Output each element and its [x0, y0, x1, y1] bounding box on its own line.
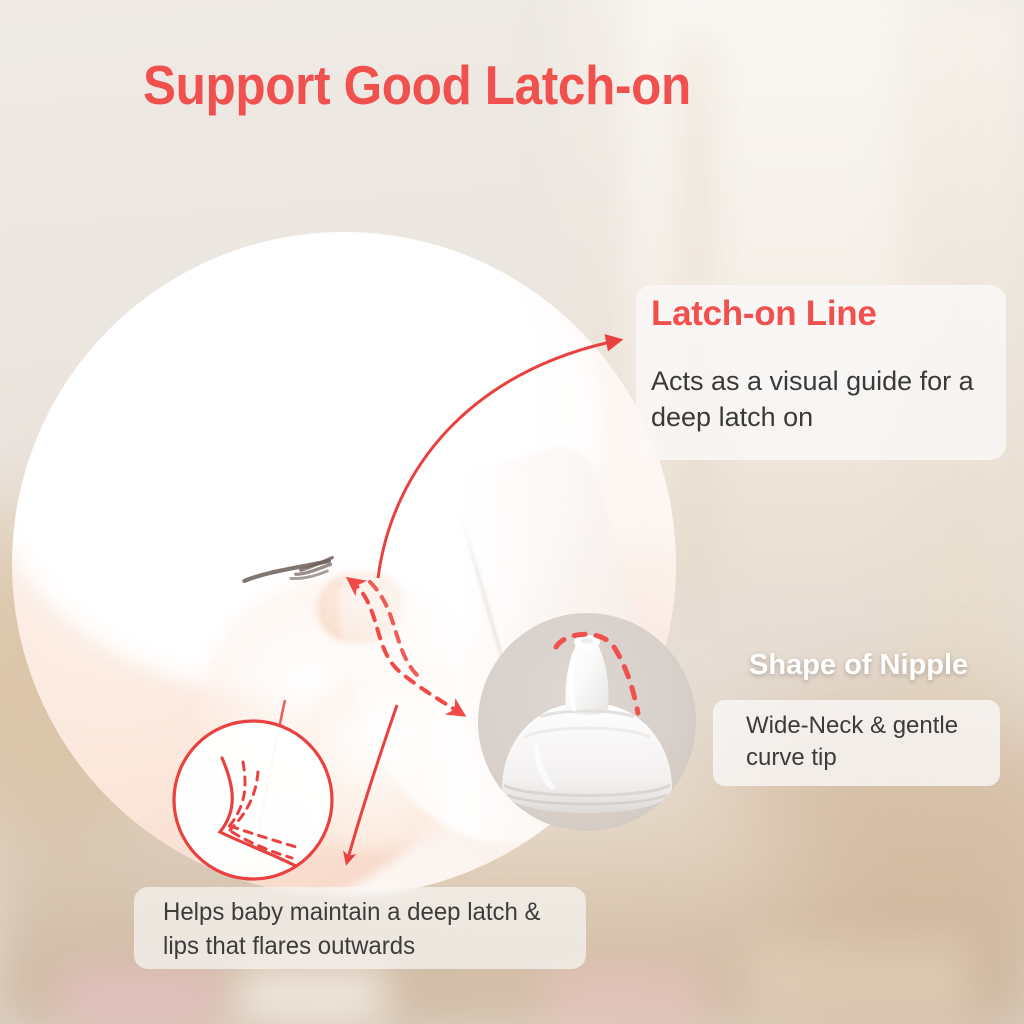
silicone-nipple-illustration — [478, 613, 696, 831]
nipple-shape-title: Shape of Nipple — [749, 649, 968, 682]
latch-line-title: Latch-on Line — [651, 294, 877, 334]
latch-line-body: Acts as a visual guide for a deep latch … — [651, 364, 996, 436]
nipple-inset-circle — [478, 613, 696, 831]
lip-flare-body: Helps baby maintain a deep latch & lips … — [163, 896, 566, 964]
baby-closed-eye-icon — [241, 556, 341, 596]
nipple-shape-body: Wide-Neck & gentle curve tip — [746, 710, 1004, 775]
page-title: Support Good Latch-on — [143, 58, 691, 113]
infographic-canvas: Support Good Latch-on — [0, 0, 1024, 1024]
